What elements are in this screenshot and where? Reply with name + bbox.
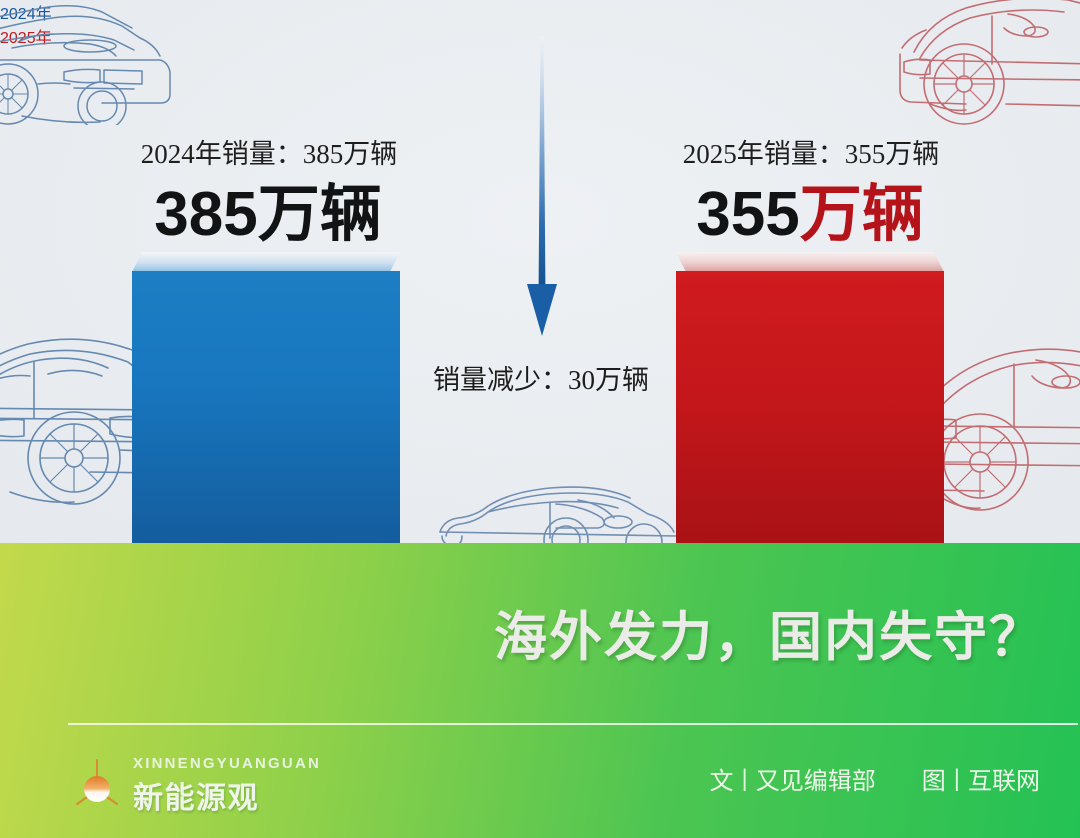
credits: 文 | 又见编辑部 图 | 互联网 <box>710 761 1040 796</box>
bar-2025-top-face <box>676 252 944 272</box>
delta-annotation: 销量减少：30万辆 <box>400 358 682 397</box>
credit-image-value: 互联网 <box>968 761 1040 796</box>
car-outline-top-right-icon <box>896 0 1080 126</box>
brand-lockup: XINNENGYUANGUAN 新能源观 <box>70 755 321 817</box>
sales-annotation-2024: 2024年销量：385万辆 <box>104 132 434 171</box>
bar-2025 <box>676 252 944 545</box>
credit-image: 图 | 互联网 <box>922 761 1040 796</box>
credit-text: 文 | 又见编辑部 <box>710 761 876 796</box>
divider <box>68 723 1078 725</box>
bar-2024 <box>132 252 400 545</box>
big-value-2025: 355万辆 <box>650 184 970 246</box>
banner: 海外发力，国内失守？ <box>0 543 1080 838</box>
brand-pinyin: XINNENGYUANGUAN <box>133 755 321 772</box>
big-value-2025-unit: 万辆 <box>800 180 924 249</box>
brand-name: 新能源观 <box>133 773 321 817</box>
down-arrow-icon <box>522 36 562 342</box>
credit-text-role: 文 <box>710 761 734 796</box>
credit-image-role: 图 <box>922 761 946 796</box>
car-outline-center-bottom-icon <box>432 470 682 545</box>
bar-2025-front-face <box>676 271 944 545</box>
headline: 海外发力，国内失守？ <box>494 595 1044 671</box>
infographic-poster: 2024年 2025年 2024年销量：385万辆 2025年销量：355万辆 … <box>0 0 1080 838</box>
credit-text-value: 又见编辑部 <box>756 761 876 796</box>
bar-2024-front-face <box>132 271 400 545</box>
brand-text: XINNENGYUANGUAN 新能源观 <box>133 755 321 817</box>
sun-logo-icon <box>70 757 124 815</box>
bar-2024-top-face <box>132 252 400 272</box>
big-value-2024: 385万辆 <box>108 184 428 246</box>
car-outline-top-left-icon <box>0 0 197 125</box>
chart-panel: 2024年 2025年 2024年销量：385万辆 2025年销量：355万辆 … <box>0 0 1080 545</box>
credit-text-separator: | <box>742 765 748 793</box>
credit-image-separator: | <box>954 765 960 793</box>
big-value-2025-number: 355 <box>696 180 799 249</box>
sales-annotation-2025: 2025年销量：355万辆 <box>646 132 976 171</box>
